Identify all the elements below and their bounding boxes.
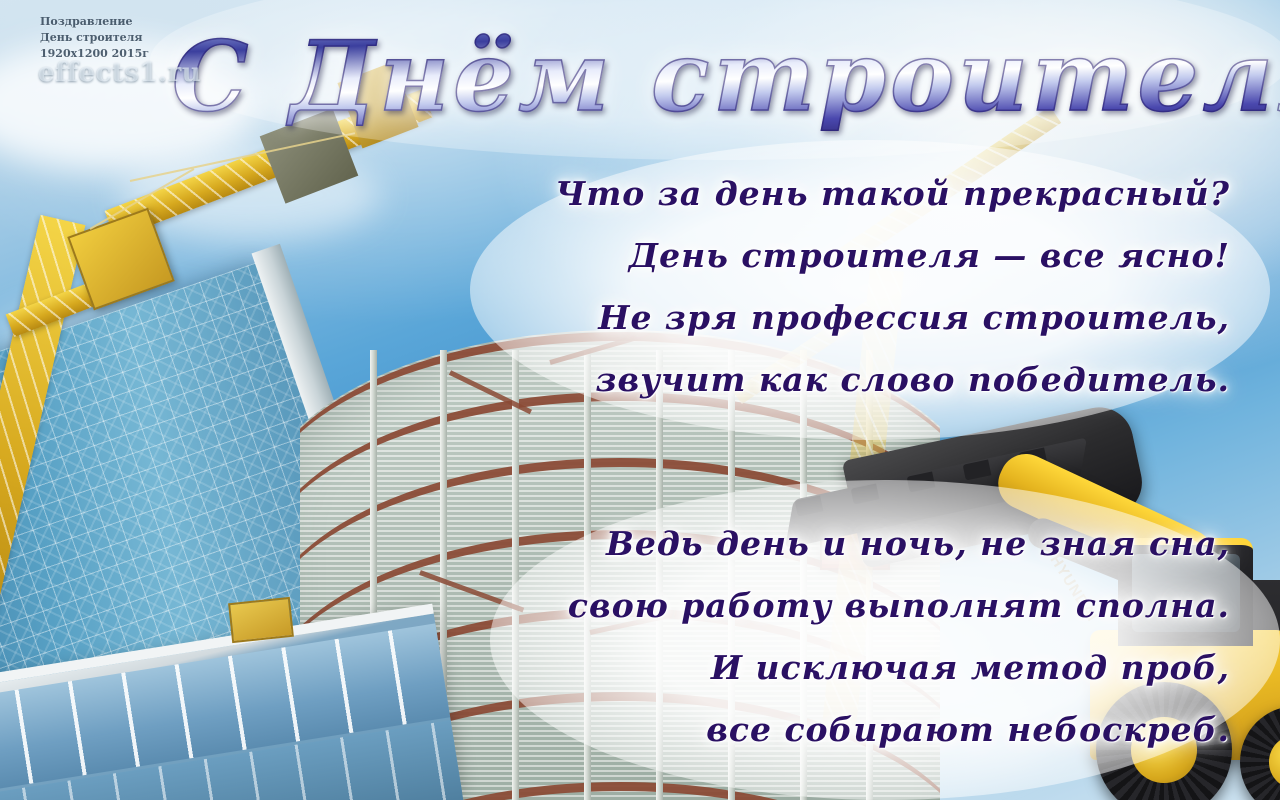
poem-line: И исключая метод проб,: [470, 636, 1230, 698]
construction-hoist: [228, 597, 294, 643]
greeting-card: HYUNDAI С Днём строителя. Что за день та…: [0, 0, 1280, 800]
poem-line: Не зря профессия строитель,: [470, 286, 1230, 348]
watermark-line-1: Поздравление: [40, 14, 240, 30]
watermark-caption: Поздравление День строителя 1920x1200 20…: [40, 14, 240, 62]
page-title: С Днём строителя.: [172, 6, 1272, 146]
poem-stanza-1: Что за день такой прекрасный? День строи…: [470, 162, 1230, 410]
poem-line: свою работу выполнят сполна.: [470, 574, 1230, 636]
poem-line: Что за день такой прекрасный?: [470, 162, 1230, 224]
watermark-line-2: День строителя: [40, 30, 240, 46]
poem-stanza-2: Ведь день и ночь, не зная сна, свою рабо…: [470, 512, 1230, 760]
poem-line: все собирают небоскреб.: [470, 698, 1230, 760]
poem-line: Ведь день и ночь, не зная сна,: [470, 512, 1230, 574]
watermark-logo: effects1.ru: [38, 58, 201, 88]
poem-line: День строителя — все ясно!: [470, 224, 1230, 286]
crane-mast: [0, 215, 85, 635]
poem-line: звучит как слово победитель.: [470, 348, 1230, 410]
